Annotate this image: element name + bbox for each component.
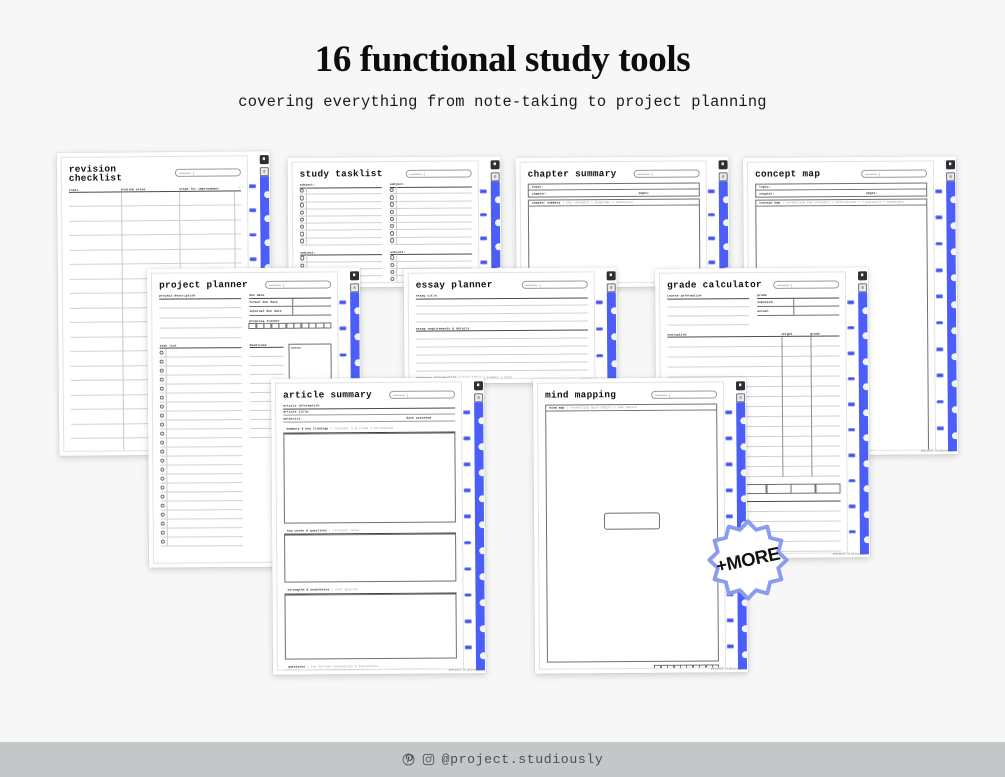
page-content: chapter summarytopic:chapter:pages:chapt… xyxy=(520,160,708,283)
task-checkbox[interactable] xyxy=(300,232,304,236)
task-checkbox[interactable] xyxy=(161,530,165,534)
page-content: article summaryarticle informationarticl… xyxy=(275,381,464,670)
field-label: topic: xyxy=(532,186,543,189)
task-line xyxy=(307,255,383,262)
grade-value[interactable] xyxy=(793,307,839,315)
tab-button[interactable] xyxy=(849,479,855,483)
bookmark-icon[interactable] xyxy=(946,160,955,169)
field-label: chapter: xyxy=(532,192,547,195)
description-lines xyxy=(159,298,241,339)
tab-notch xyxy=(740,417,747,424)
task-checkbox[interactable] xyxy=(160,476,164,480)
tab-button[interactable] xyxy=(465,567,471,571)
tab-button[interactable] xyxy=(849,530,855,534)
task-line xyxy=(167,474,243,483)
progress-label: progress tracker xyxy=(621,668,652,670)
tasklist-col: task list xyxy=(159,344,242,546)
tab-notch xyxy=(951,406,958,413)
task-line xyxy=(167,501,243,510)
task-checkbox[interactable] xyxy=(300,256,304,260)
task-checkbox[interactable] xyxy=(161,503,165,507)
delete-icon[interactable] xyxy=(607,283,616,292)
tab-button[interactable] xyxy=(464,515,470,519)
tab-notch xyxy=(495,243,502,250)
tab-button[interactable] xyxy=(480,189,486,193)
task-checkbox[interactable] xyxy=(160,404,164,408)
rail-icons xyxy=(946,160,955,183)
task-checkbox[interactable] xyxy=(161,494,165,498)
tab-notch xyxy=(862,358,869,365)
tab-button[interactable] xyxy=(465,645,471,649)
page-title: 16 functional study tools xyxy=(0,41,1005,78)
progress-tracker[interactable] xyxy=(655,664,719,669)
section-label: strengths & weaknesses | your opinion xyxy=(287,589,358,593)
delete-icon[interactable] xyxy=(474,393,483,402)
delete-icon[interactable] xyxy=(350,283,359,292)
task-checkbox[interactable] xyxy=(160,377,164,381)
task-line xyxy=(166,366,242,375)
tab-notch xyxy=(478,495,485,502)
tab-notch xyxy=(740,495,747,502)
tab-button[interactable] xyxy=(849,453,855,457)
task-checkbox[interactable] xyxy=(390,202,394,206)
page-tabs-rail xyxy=(595,267,618,382)
progress-cell[interactable] xyxy=(323,323,331,329)
due-value[interactable] xyxy=(292,307,331,315)
tab-notch xyxy=(862,409,869,416)
tab-button[interactable] xyxy=(481,260,487,264)
ruled-line xyxy=(69,220,241,236)
name-field[interactable] xyxy=(522,280,588,288)
tab-button[interactable] xyxy=(848,326,854,330)
task-checkbox[interactable] xyxy=(390,224,394,228)
task-line xyxy=(307,238,383,245)
tab-notch xyxy=(611,334,618,341)
task-line xyxy=(167,447,243,456)
task-line xyxy=(166,411,242,420)
task-line xyxy=(396,201,472,208)
name-field[interactable] xyxy=(406,169,472,177)
task-checkbox[interactable] xyxy=(300,239,304,243)
task-row[interactable] xyxy=(390,237,472,245)
task-checkbox[interactable] xyxy=(160,386,164,390)
tab-notch xyxy=(479,573,486,580)
rail-icons xyxy=(350,271,359,294)
answer-canvas[interactable] xyxy=(284,593,456,659)
bookmark-icon[interactable] xyxy=(491,160,500,169)
tab-notch xyxy=(862,332,869,339)
shift-cell[interactable] xyxy=(791,484,816,494)
rail-icons xyxy=(736,381,745,404)
grade-label: actual xyxy=(757,307,793,315)
mindmap-canvas[interactable] xyxy=(545,410,719,662)
tab-notch xyxy=(863,511,870,518)
ruled-line xyxy=(667,316,749,326)
answer-canvas[interactable] xyxy=(284,534,456,583)
task-checkbox[interactable] xyxy=(160,440,164,444)
table-header-cell: grade xyxy=(810,333,839,336)
bookmark-icon[interactable] xyxy=(607,271,616,280)
task-checkbox[interactable] xyxy=(390,210,394,214)
task-checkbox[interactable] xyxy=(160,359,164,363)
tab-button[interactable] xyxy=(937,426,943,430)
card-title: essay planner xyxy=(416,280,493,290)
task-checkbox[interactable] xyxy=(160,485,164,489)
tab-button[interactable] xyxy=(726,436,732,440)
task-checkbox[interactable] xyxy=(160,350,164,354)
task-line xyxy=(397,261,473,268)
tab-button[interactable] xyxy=(848,428,854,432)
task-line xyxy=(167,456,243,465)
task-checkbox[interactable] xyxy=(390,188,394,192)
tab-button[interactable] xyxy=(464,489,470,493)
tab-button[interactable] xyxy=(708,237,714,241)
shift-cell[interactable] xyxy=(815,484,840,494)
bookmark-icon[interactable] xyxy=(719,160,728,169)
tab-button[interactable] xyxy=(250,233,256,237)
task-line xyxy=(396,208,472,215)
tab-notch xyxy=(862,307,869,314)
task-line xyxy=(167,438,243,447)
tab-notch xyxy=(740,469,747,476)
ruled-line xyxy=(69,235,241,251)
delete-icon[interactable] xyxy=(858,283,867,292)
delete-icon[interactable] xyxy=(260,167,269,176)
tab-button[interactable] xyxy=(708,189,714,193)
tab-button[interactable] xyxy=(340,353,346,357)
name-field[interactable] xyxy=(634,169,700,177)
task-checkbox[interactable] xyxy=(300,189,304,193)
task-line xyxy=(166,384,242,393)
bookmark-icon[interactable] xyxy=(260,155,269,164)
bookmark-icon[interactable] xyxy=(350,271,359,280)
ruled-line xyxy=(250,357,284,366)
ruled-line xyxy=(159,328,241,339)
more-badge-label: +MORE xyxy=(693,505,802,614)
tab-button[interactable] xyxy=(340,327,346,331)
tab-button[interactable] xyxy=(464,410,470,414)
card-title: study tasklist xyxy=(300,169,383,179)
card-title: concept map xyxy=(755,169,820,179)
more-badge[interactable]: +MORE xyxy=(702,514,794,606)
rail-icons xyxy=(474,381,483,404)
tab-notch xyxy=(951,327,958,334)
task-line xyxy=(166,375,242,384)
task-checkbox[interactable] xyxy=(300,210,304,214)
task-line xyxy=(306,202,382,209)
tab-button[interactable] xyxy=(464,436,470,440)
tab-notch xyxy=(611,360,618,367)
page-tabs-rail xyxy=(846,267,870,557)
progress-row: progress tracker xyxy=(547,664,719,669)
tab-button[interactable] xyxy=(936,216,942,220)
instagram-icon[interactable] xyxy=(422,753,435,766)
task-line xyxy=(306,209,382,216)
name-field[interactable] xyxy=(265,280,331,288)
tab-button[interactable] xyxy=(464,541,470,545)
task-checkbox[interactable] xyxy=(390,270,394,274)
card-title: article summary xyxy=(283,390,372,400)
tab-button[interactable] xyxy=(937,374,943,378)
tab-button[interactable] xyxy=(250,209,256,213)
task-checkbox[interactable] xyxy=(390,195,394,199)
task-line xyxy=(167,510,243,519)
date-accessed-label: date accessed xyxy=(406,416,431,419)
tab-button[interactable] xyxy=(848,377,854,381)
field-label: pages: xyxy=(866,192,877,195)
page-footnote: project.studiously xyxy=(449,668,481,671)
rail-icons xyxy=(607,271,616,294)
left-col: project description xyxy=(159,294,241,338)
task-checkbox[interactable] xyxy=(160,431,164,435)
page-tabs-rail xyxy=(934,156,958,454)
delete-icon[interactable] xyxy=(736,393,745,402)
notes-label: notes xyxy=(291,347,328,350)
page-footnote: project.studiously xyxy=(711,667,743,670)
tab-button[interactable] xyxy=(726,488,732,492)
ruled-line xyxy=(69,191,241,207)
two-col: course informationgradeexpectedactual xyxy=(667,294,839,326)
check-column-header: ✓ xyxy=(234,187,241,190)
tab-button[interactable] xyxy=(848,402,854,406)
section-label: mind map | connecting main topics + sub … xyxy=(549,406,637,410)
tab-button[interactable] xyxy=(727,619,733,623)
tab-notch xyxy=(723,243,730,250)
tab-button[interactable] xyxy=(596,300,602,304)
section-label: chapter summary | key concepts + diagram… xyxy=(532,201,633,205)
tab-notch xyxy=(741,625,748,632)
card-essay-planner[interactable]: essay planneressay titleessay requiremen… xyxy=(404,267,618,383)
tab-button[interactable] xyxy=(465,619,471,623)
ruled-line xyxy=(250,366,284,375)
card-title: mind mapping xyxy=(545,390,616,400)
due-value[interactable] xyxy=(292,298,331,306)
task-line xyxy=(396,237,472,244)
task-line xyxy=(396,230,472,237)
tab-button[interactable] xyxy=(709,260,715,264)
tab-button[interactable] xyxy=(480,237,486,241)
task-line xyxy=(396,215,472,222)
delete-icon[interactable] xyxy=(719,172,728,181)
card-title: chapter summary xyxy=(528,169,617,179)
bookmark-icon[interactable] xyxy=(736,381,745,390)
task-checkbox[interactable] xyxy=(160,449,164,453)
tab-notch xyxy=(863,434,870,441)
tab-button[interactable] xyxy=(726,410,732,414)
bookmark-icon[interactable] xyxy=(474,381,483,390)
name-field[interactable] xyxy=(861,169,927,177)
page-footnote: project.studiously xyxy=(833,552,865,555)
task-line xyxy=(397,254,473,261)
tab-notch xyxy=(354,307,361,314)
grade-col: gradeexpectedactual xyxy=(757,294,839,325)
name-field[interactable] xyxy=(773,280,839,288)
task-checkbox[interactable] xyxy=(390,217,394,221)
task-line xyxy=(166,429,242,438)
task-checkbox[interactable] xyxy=(300,203,304,207)
tab-button[interactable] xyxy=(250,257,256,261)
two-col: project descriptiondue dateformal due da… xyxy=(159,294,331,339)
due-label: formal due date xyxy=(249,298,292,306)
task-line xyxy=(167,492,243,501)
rail-icons xyxy=(719,160,728,183)
section-label: questions | for further evaluation & dis… xyxy=(288,665,378,669)
task-checkbox[interactable] xyxy=(390,263,394,267)
info-label: author(s): xyxy=(283,417,302,420)
pinterest-icon[interactable] xyxy=(402,753,415,766)
tab-notch xyxy=(950,222,957,229)
task-line xyxy=(167,483,243,492)
tab-notch xyxy=(479,652,486,659)
delete-icon[interactable] xyxy=(946,172,955,181)
footer-handle: @project.studiously xyxy=(442,752,604,767)
task-checkbox[interactable] xyxy=(300,225,304,229)
tab-button[interactable] xyxy=(596,327,602,331)
name-field[interactable] xyxy=(389,390,455,398)
tab-notch xyxy=(478,469,485,476)
task-checkbox[interactable] xyxy=(160,368,164,372)
tab-button[interactable] xyxy=(936,268,942,272)
tab-button[interactable] xyxy=(464,463,470,467)
tab-button[interactable] xyxy=(726,462,732,466)
ruled-line xyxy=(70,249,242,265)
tab-button[interactable] xyxy=(937,347,943,351)
tab-notch xyxy=(610,307,617,314)
task-line xyxy=(166,348,242,357)
task-checkbox[interactable] xyxy=(160,413,164,417)
task-checkbox[interactable] xyxy=(160,458,164,462)
ruled-line xyxy=(159,318,241,329)
tab-button[interactable] xyxy=(936,321,942,325)
tab-notch xyxy=(722,196,729,203)
tab-notch xyxy=(354,360,361,367)
task-line xyxy=(306,194,382,201)
task-checkbox[interactable] xyxy=(160,422,164,426)
tab-button[interactable] xyxy=(848,300,854,304)
quadrant: subject: xyxy=(300,183,382,245)
page-tabs-rail xyxy=(462,377,486,673)
tab-button[interactable] xyxy=(848,351,854,355)
field-label: topic: xyxy=(759,186,770,189)
tab-notch xyxy=(950,196,957,203)
page-content: study tasklistsubject:subject:subject:su… xyxy=(292,160,480,283)
answer-canvas[interactable] xyxy=(285,670,457,671)
task-checkbox[interactable] xyxy=(160,395,164,399)
tab-notch xyxy=(264,239,271,246)
ruled-line xyxy=(159,298,241,309)
tab-notch xyxy=(264,191,271,198)
task-row[interactable] xyxy=(300,238,382,246)
tab-notch xyxy=(863,460,870,467)
writing-lines xyxy=(416,330,588,371)
tab-button[interactable] xyxy=(936,295,942,299)
tab-notch xyxy=(479,547,486,554)
grade-label: expected xyxy=(757,298,793,306)
card-title: revision checklist xyxy=(69,164,175,184)
ruled-line xyxy=(69,206,241,222)
tab-button[interactable] xyxy=(340,300,346,304)
progress-tracker[interactable] xyxy=(249,323,331,330)
task-line xyxy=(396,194,472,201)
task-line xyxy=(306,187,382,194)
tab-notch xyxy=(494,219,501,226)
tab-notch xyxy=(494,196,501,203)
task-line xyxy=(167,537,243,546)
ruled-line xyxy=(250,348,284,357)
shift-cell[interactable] xyxy=(766,484,791,494)
tab-notch xyxy=(478,443,485,450)
tab-notch xyxy=(479,600,486,607)
delete-icon[interactable] xyxy=(491,172,500,181)
page-subtitle: covering everything from note-taking to … xyxy=(0,93,1005,111)
page-content: essay planneressay titleessay requiremen… xyxy=(408,271,596,379)
task-checkbox[interactable] xyxy=(390,231,394,235)
tab-button[interactable] xyxy=(937,400,943,404)
name-field[interactable] xyxy=(651,390,717,398)
tab-notch xyxy=(264,215,271,222)
task-line xyxy=(166,393,242,402)
tab-notch xyxy=(478,417,485,424)
tab-notch xyxy=(741,651,748,658)
page-tabs-rail xyxy=(707,156,730,286)
task-line xyxy=(396,187,472,194)
card-article-summary[interactable]: article summaryarticle informationarticl… xyxy=(271,377,486,674)
course-lines xyxy=(667,298,749,326)
info-label: article title: xyxy=(283,410,310,413)
rail-icons xyxy=(260,155,269,178)
name-field[interactable] xyxy=(175,169,241,178)
answer-canvas[interactable] xyxy=(283,432,456,523)
grade-row[interactable]: actual xyxy=(757,307,839,317)
task-checkbox[interactable] xyxy=(161,512,165,516)
task-line xyxy=(166,420,242,429)
tab-button[interactable] xyxy=(465,593,471,597)
task-checkbox[interactable] xyxy=(300,196,304,200)
ruled-line xyxy=(159,308,241,319)
tab-notch xyxy=(863,536,870,543)
center-node[interactable] xyxy=(604,512,660,529)
tab-button[interactable] xyxy=(249,184,255,188)
section-label: key words & questions | relevant terms xyxy=(287,529,359,533)
task-line xyxy=(166,402,242,411)
tab-button[interactable] xyxy=(936,189,942,193)
task-line xyxy=(166,357,242,366)
rail-icons xyxy=(858,271,867,294)
tab-button[interactable] xyxy=(849,504,855,508)
task-checkbox[interactable] xyxy=(300,217,304,221)
tab-notch xyxy=(950,248,957,255)
grade-value[interactable] xyxy=(793,298,839,306)
field-label: pages: xyxy=(638,192,649,195)
task-checkbox[interactable] xyxy=(390,238,394,242)
tab-button[interactable] xyxy=(727,645,733,649)
bookmark-icon[interactable] xyxy=(858,271,867,280)
task-checkbox[interactable] xyxy=(390,255,394,259)
tab-button[interactable] xyxy=(708,213,714,217)
task-line xyxy=(306,223,382,230)
tab-button[interactable] xyxy=(480,213,486,217)
task-checkbox[interactable] xyxy=(390,277,394,281)
field-label: chapter: xyxy=(759,192,774,195)
tab-button[interactable] xyxy=(597,354,603,358)
task-checkbox[interactable] xyxy=(160,467,164,471)
task-row[interactable] xyxy=(161,537,243,547)
task-checkbox[interactable] xyxy=(161,521,165,525)
task-line xyxy=(306,216,382,223)
rail-icons xyxy=(491,160,500,183)
task-checkbox[interactable] xyxy=(161,539,165,543)
tab-button[interactable] xyxy=(936,242,942,246)
